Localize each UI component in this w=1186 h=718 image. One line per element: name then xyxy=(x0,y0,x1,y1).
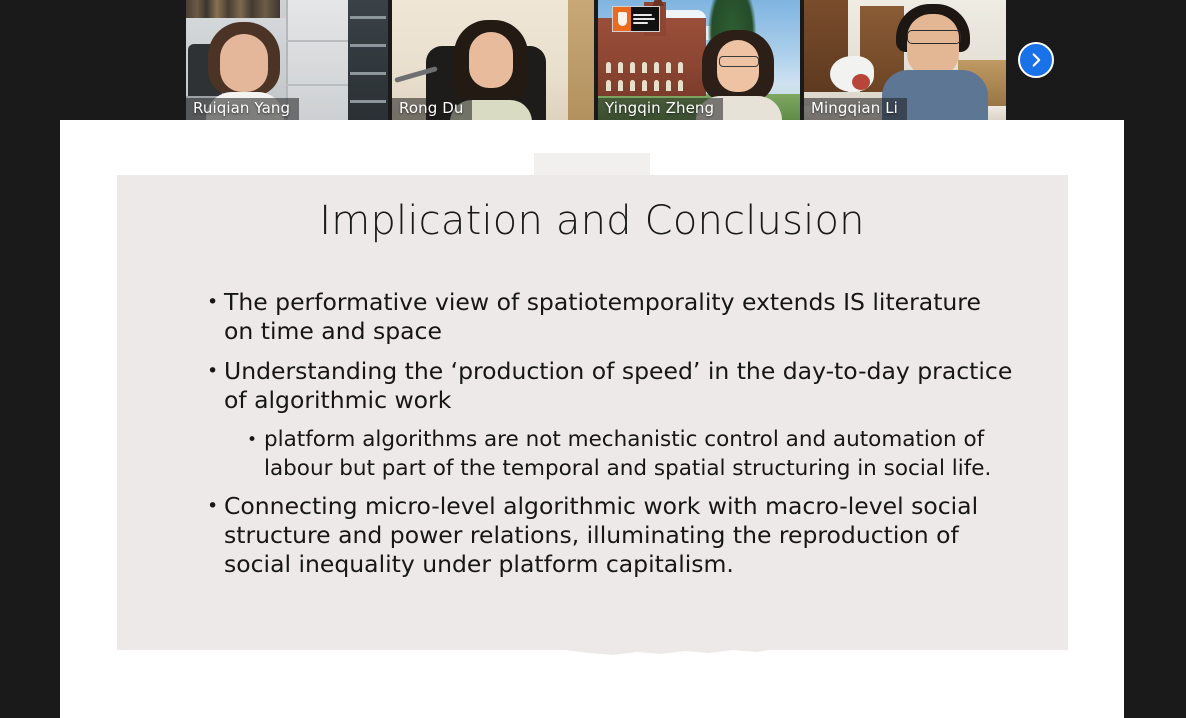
participant-name-label: Rong Du xyxy=(392,98,472,120)
bullet-item: • Understanding the ‘production of speed… xyxy=(207,357,1017,415)
bullet-marker-icon: • xyxy=(207,288,224,317)
participant-tile-ruiqian-yang[interactable]: Ruiqian Yang xyxy=(186,0,388,120)
torn-paper-edge-decoration xyxy=(117,620,1068,660)
next-participants-button[interactable] xyxy=(1018,42,1054,78)
bullet-item: • Connecting micro-level algorithmic wor… xyxy=(207,492,1017,579)
participant-tile-yingqin-zheng[interactable]: Yingqin Zheng xyxy=(598,0,800,120)
royal-holloway-logo-icon xyxy=(612,6,660,32)
bullet-marker-icon: • xyxy=(207,492,224,521)
bullet-text: Understanding the ‘production of speed’ … xyxy=(224,357,1017,415)
slide-bullet-list: • The performative view of spatiotempora… xyxy=(207,288,1017,590)
shared-slide: Implication and Conclusion • The perform… xyxy=(60,120,1124,718)
participant-name-label: Mingqian Li xyxy=(804,98,907,120)
zoom-presentation-window: Ruiqian Yang Rong Du xyxy=(0,0,1186,718)
slide-title: Implication and Conclusion xyxy=(60,197,1124,245)
bullet-text: Connecting micro-level algorithmic work … xyxy=(224,492,1017,579)
bullet-item-nested: • platform algorithms are not mechanisti… xyxy=(247,426,1017,483)
bullet-marker-icon: • xyxy=(207,357,224,386)
participant-name-label: Ruiqian Yang xyxy=(186,98,299,120)
bullet-text: platform algorithms are not mechanistic … xyxy=(264,426,1017,483)
participant-name-label: Yingqin Zheng xyxy=(598,98,723,120)
bullet-marker-icon: • xyxy=(247,426,264,455)
bullet-text: The performative view of spatiotemporali… xyxy=(224,288,1017,346)
participant-filmstrip: Ruiqian Yang Rong Du xyxy=(186,0,1002,120)
participant-tile-rong-du[interactable]: Rong Du xyxy=(392,0,594,120)
participant-tile-mingqian-li[interactable]: Mingqian Li xyxy=(804,0,1006,120)
chevron-right-icon xyxy=(1028,52,1044,68)
bullet-item: • The performative view of spatiotempora… xyxy=(207,288,1017,346)
